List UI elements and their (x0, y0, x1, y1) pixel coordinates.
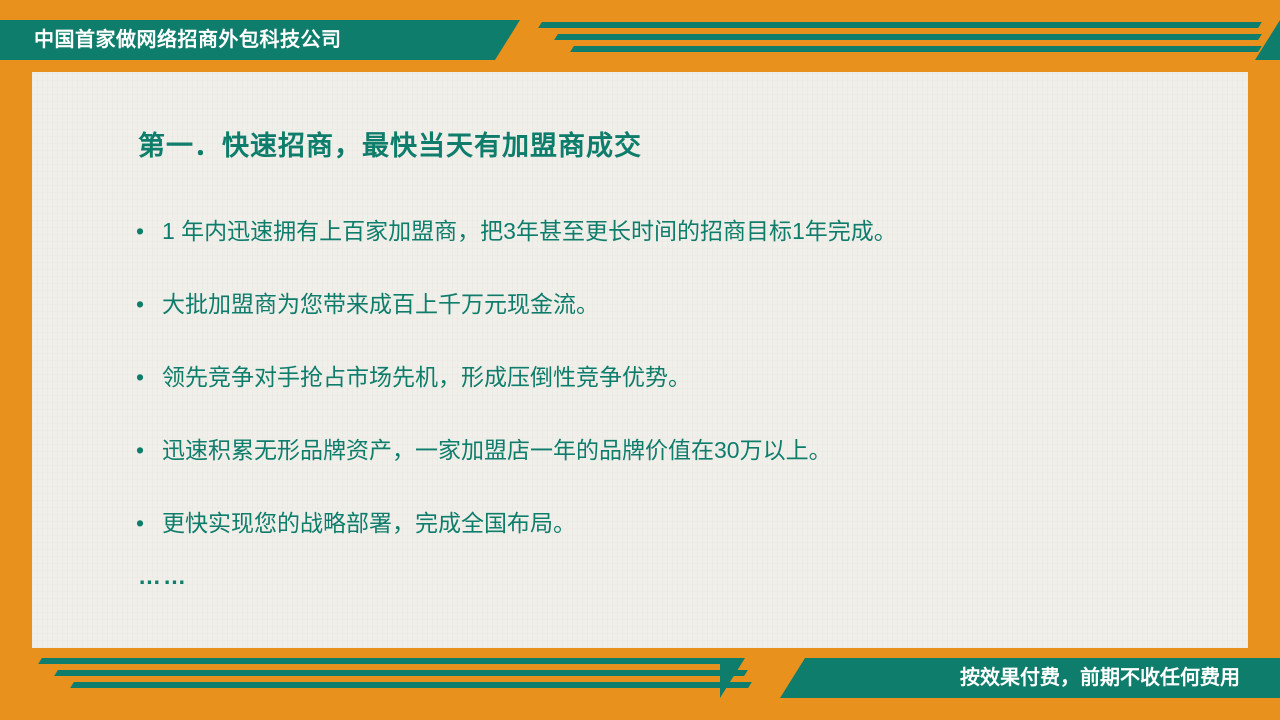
list-item-text: 迅速积累无形品牌资产，一家加盟店一年的品牌价值在30万以上。 (162, 435, 832, 465)
list-item-text: 领先竞争对手抢占市场先机，形成压倒性竞争优势。 (162, 362, 691, 392)
bullet-point-icon: • (136, 362, 162, 392)
presentation-slide: 中国首家做网络招商外包科技公司 第一．快速招商，最快当天有加盟商成交 • 1 年… (0, 0, 1280, 720)
list-item: • 1 年内迅速拥有上百家加盟商，把3年甚至更长时间的招商目标1年完成。 (136, 216, 1206, 246)
header-title: 中国首家做网络招商外包科技公司 (34, 26, 342, 54)
bullet-point-icon: • (136, 508, 162, 538)
list-item: • 更快实现您的战略部署，完成全国布局。 (136, 508, 1206, 538)
header-stripe-2 (554, 34, 1262, 40)
list-item: • 领先竞争对手抢占市场先机，形成压倒性竞争优势。 (136, 362, 1206, 392)
header-stripe-3 (570, 46, 1262, 52)
page-title: 第一．快速招商，最快当天有加盟商成交 (138, 128, 1206, 164)
list-item: • 大批加盟商为您带来成百上千万元现金流。 (136, 289, 1206, 319)
footer-stripe-1 (38, 658, 742, 664)
bullet-list: • 1 年内迅速拥有上百家加盟商，把3年甚至更长时间的招商目标1年完成。 • 大… (136, 216, 1206, 538)
footer-stripe-3 (70, 682, 752, 688)
bullet-point-icon: • (136, 216, 162, 246)
list-item-text: 1 年内迅速拥有上百家加盟商，把3年甚至更长时间的招商目标1年完成。 (162, 216, 897, 246)
list-item-text: 更快实现您的战略部署，完成全国布局。 (162, 508, 576, 538)
ellipsis-text: …… (138, 563, 1206, 589)
bullet-point-icon: • (136, 289, 162, 319)
footer-tagline: 按效果付费，前期不收任何费用 (960, 665, 1240, 691)
list-item: • 迅速积累无形品牌资产，一家加盟店一年的品牌价值在30万以上。 (136, 435, 1206, 465)
footer-stripe-2 (54, 670, 748, 676)
footer-band: 按效果付费，前期不收任何费用 (0, 658, 1280, 698)
slide-body: 第一．快速招商，最快当天有加盟商成交 • 1 年内迅速拥有上百家加盟商，把3年甚… (136, 128, 1206, 589)
bullet-point-icon: • (136, 435, 162, 465)
list-item-text: 大批加盟商为您带来成百上千万元现金流。 (162, 289, 599, 319)
header-stripe-1 (538, 22, 1262, 28)
